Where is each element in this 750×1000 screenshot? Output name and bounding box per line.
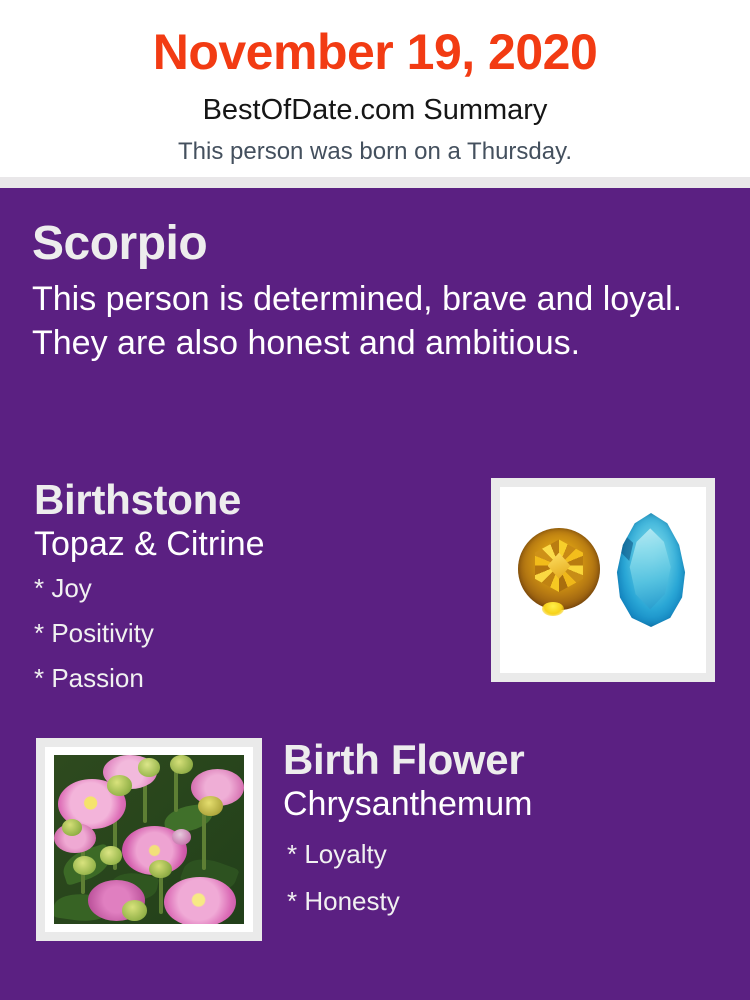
list-item: * Positivity xyxy=(34,620,474,665)
birthstone-section: Birthstone Topaz & Citrine * Joy * Posit… xyxy=(34,478,474,710)
bud-shape xyxy=(172,829,191,844)
bud-shape xyxy=(122,900,147,920)
zodiac-sign-name: Scorpio xyxy=(32,218,722,270)
birthstone-title: Birthstone xyxy=(34,478,474,522)
bud-shape xyxy=(107,775,132,795)
bud-shape xyxy=(100,846,123,865)
citrine-highlight-icon xyxy=(542,602,564,616)
summary-card: November 19, 2020 BestOfDate.com Summary… xyxy=(0,0,750,1000)
page-title: November 19, 2020 xyxy=(0,0,750,77)
zodiac-section: Scorpio This person is determined, brave… xyxy=(32,218,722,365)
bud-shape xyxy=(170,755,193,774)
birth-flower-traits: * Loyalty * Honesty xyxy=(283,823,723,935)
bloom-shape xyxy=(164,877,236,924)
birthstone-traits: * Joy * Positivity * Passion xyxy=(34,563,474,710)
bud-shape xyxy=(73,856,96,875)
header-divider xyxy=(0,177,750,188)
topaz-gem-icon xyxy=(614,513,688,627)
list-item: * Honesty xyxy=(287,888,723,935)
bud-shape xyxy=(149,860,172,879)
gemstone-illustration xyxy=(512,497,694,663)
list-item: * Joy xyxy=(34,575,474,620)
birth-flower-photo xyxy=(45,747,253,932)
birthstone-photo xyxy=(500,487,706,673)
list-item: * Loyalty xyxy=(287,841,723,888)
birthstone-name: Topaz & Citrine xyxy=(34,522,474,563)
card-header: November 19, 2020 BestOfDate.com Summary… xyxy=(0,0,750,177)
birth-flower-section: Birth Flower Chrysanthemum * Loyalty * H… xyxy=(283,738,723,935)
list-item: * Passion xyxy=(34,665,474,710)
bud-shape xyxy=(138,758,161,777)
bud-shape xyxy=(198,796,223,816)
birth-flower-name: Chrysanthemum xyxy=(283,782,723,823)
citrine-gem-icon xyxy=(518,528,600,610)
birth-flower-photo-frame xyxy=(36,738,262,941)
birth-day-note: This person was born on a Thursday. xyxy=(0,125,750,164)
stem-shape xyxy=(202,809,206,870)
chrysanthemum-illustration xyxy=(54,755,244,924)
birthstone-photo-frame xyxy=(491,478,715,682)
site-subtitle: BestOfDate.com Summary xyxy=(0,77,750,125)
birth-flower-title: Birth Flower xyxy=(283,738,723,782)
zodiac-description: This person is determined, brave and loy… xyxy=(32,270,697,365)
